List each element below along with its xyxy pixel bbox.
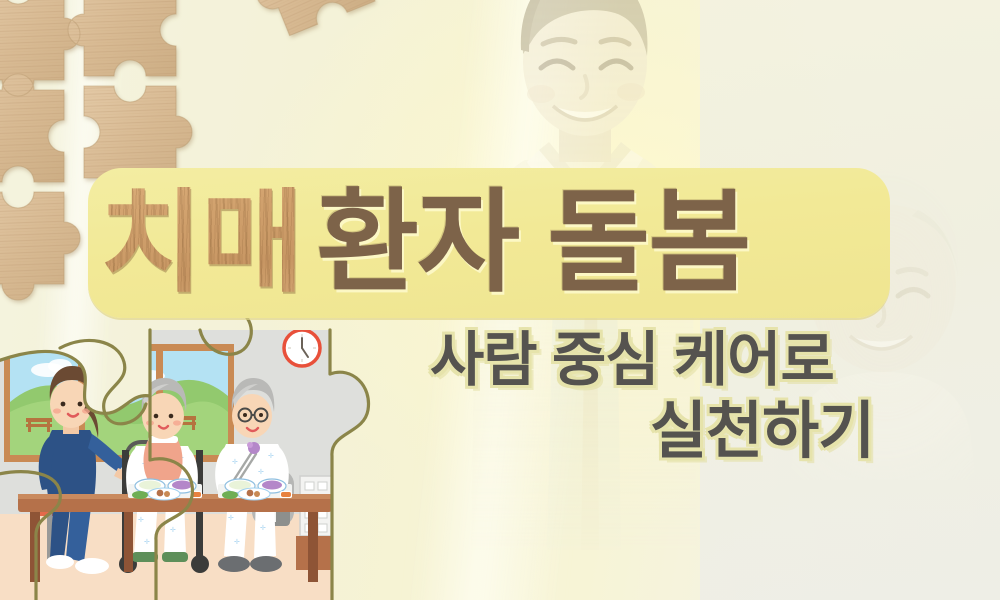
subtitle-line-2: 실천하기 [650,380,874,470]
mealtime-care-illustration: ✛✛ ✛✛ ✛✛ ✛✛ [0,300,440,600]
svg-text:✛: ✛ [144,538,150,546]
svg-text:✛: ✛ [260,524,266,532]
promotional-banner: ✛✛ ✛✛ ✛✛ ✛✛ [0,0,1000,600]
svg-text:✛: ✛ [268,452,274,460]
svg-text:✛: ✛ [232,458,238,466]
svg-text:✛: ✛ [170,526,176,534]
title-wood-text: 치매 [100,187,308,299]
svg-text:✛: ✛ [228,514,234,522]
title-brown-text: 환자 돌봄 [308,187,749,299]
main-title: 치매 환자 돌봄 [100,172,890,314]
svg-text:✛: ✛ [138,516,144,524]
svg-text:✛: ✛ [258,468,264,476]
